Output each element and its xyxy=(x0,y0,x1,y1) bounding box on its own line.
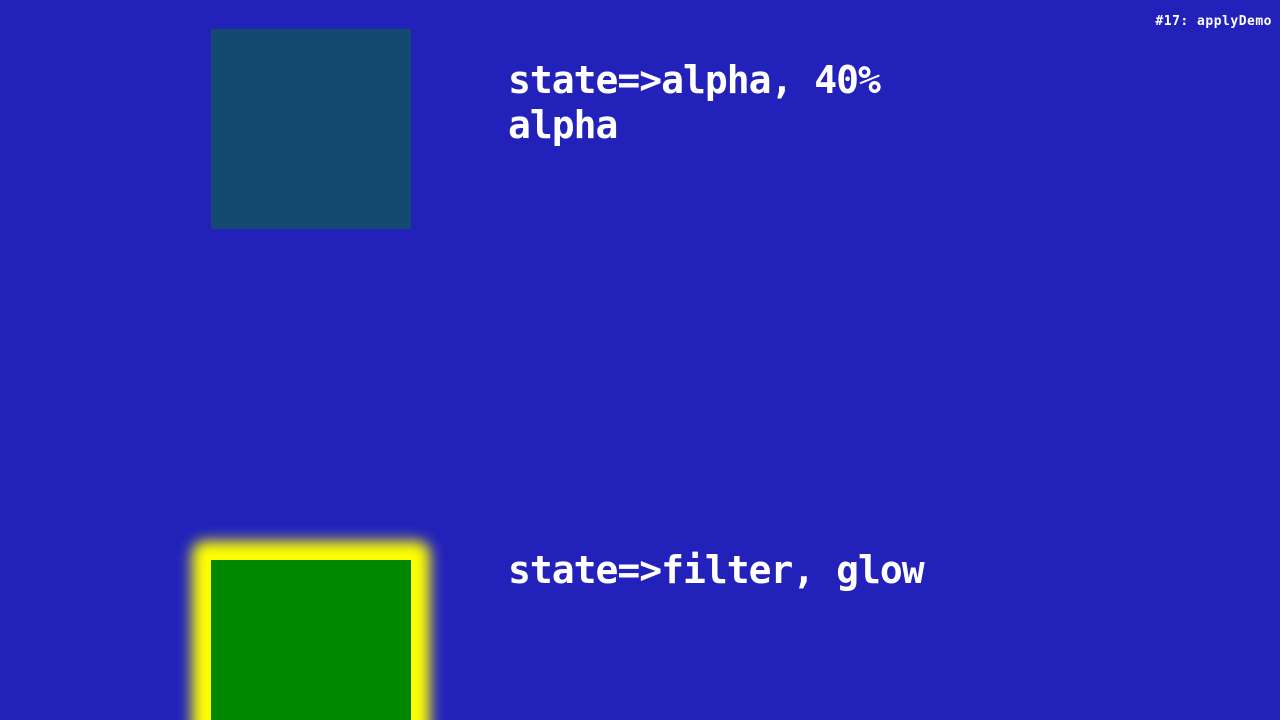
green-square-alpha-sprite xyxy=(211,29,411,229)
demo-row-scale: state=>scale, 70% + x move xyxy=(0,540,1280,720)
caption-alpha: state=>alpha, 40% alpha xyxy=(508,58,948,148)
demo-row-filter: state=>filter, glow xyxy=(0,250,1280,540)
demo-row-alpha: state=>alpha, 40% alpha xyxy=(0,0,1280,250)
demo-canvas: #17: applyDemo state=>alpha, 40% alpha s… xyxy=(0,0,1280,720)
